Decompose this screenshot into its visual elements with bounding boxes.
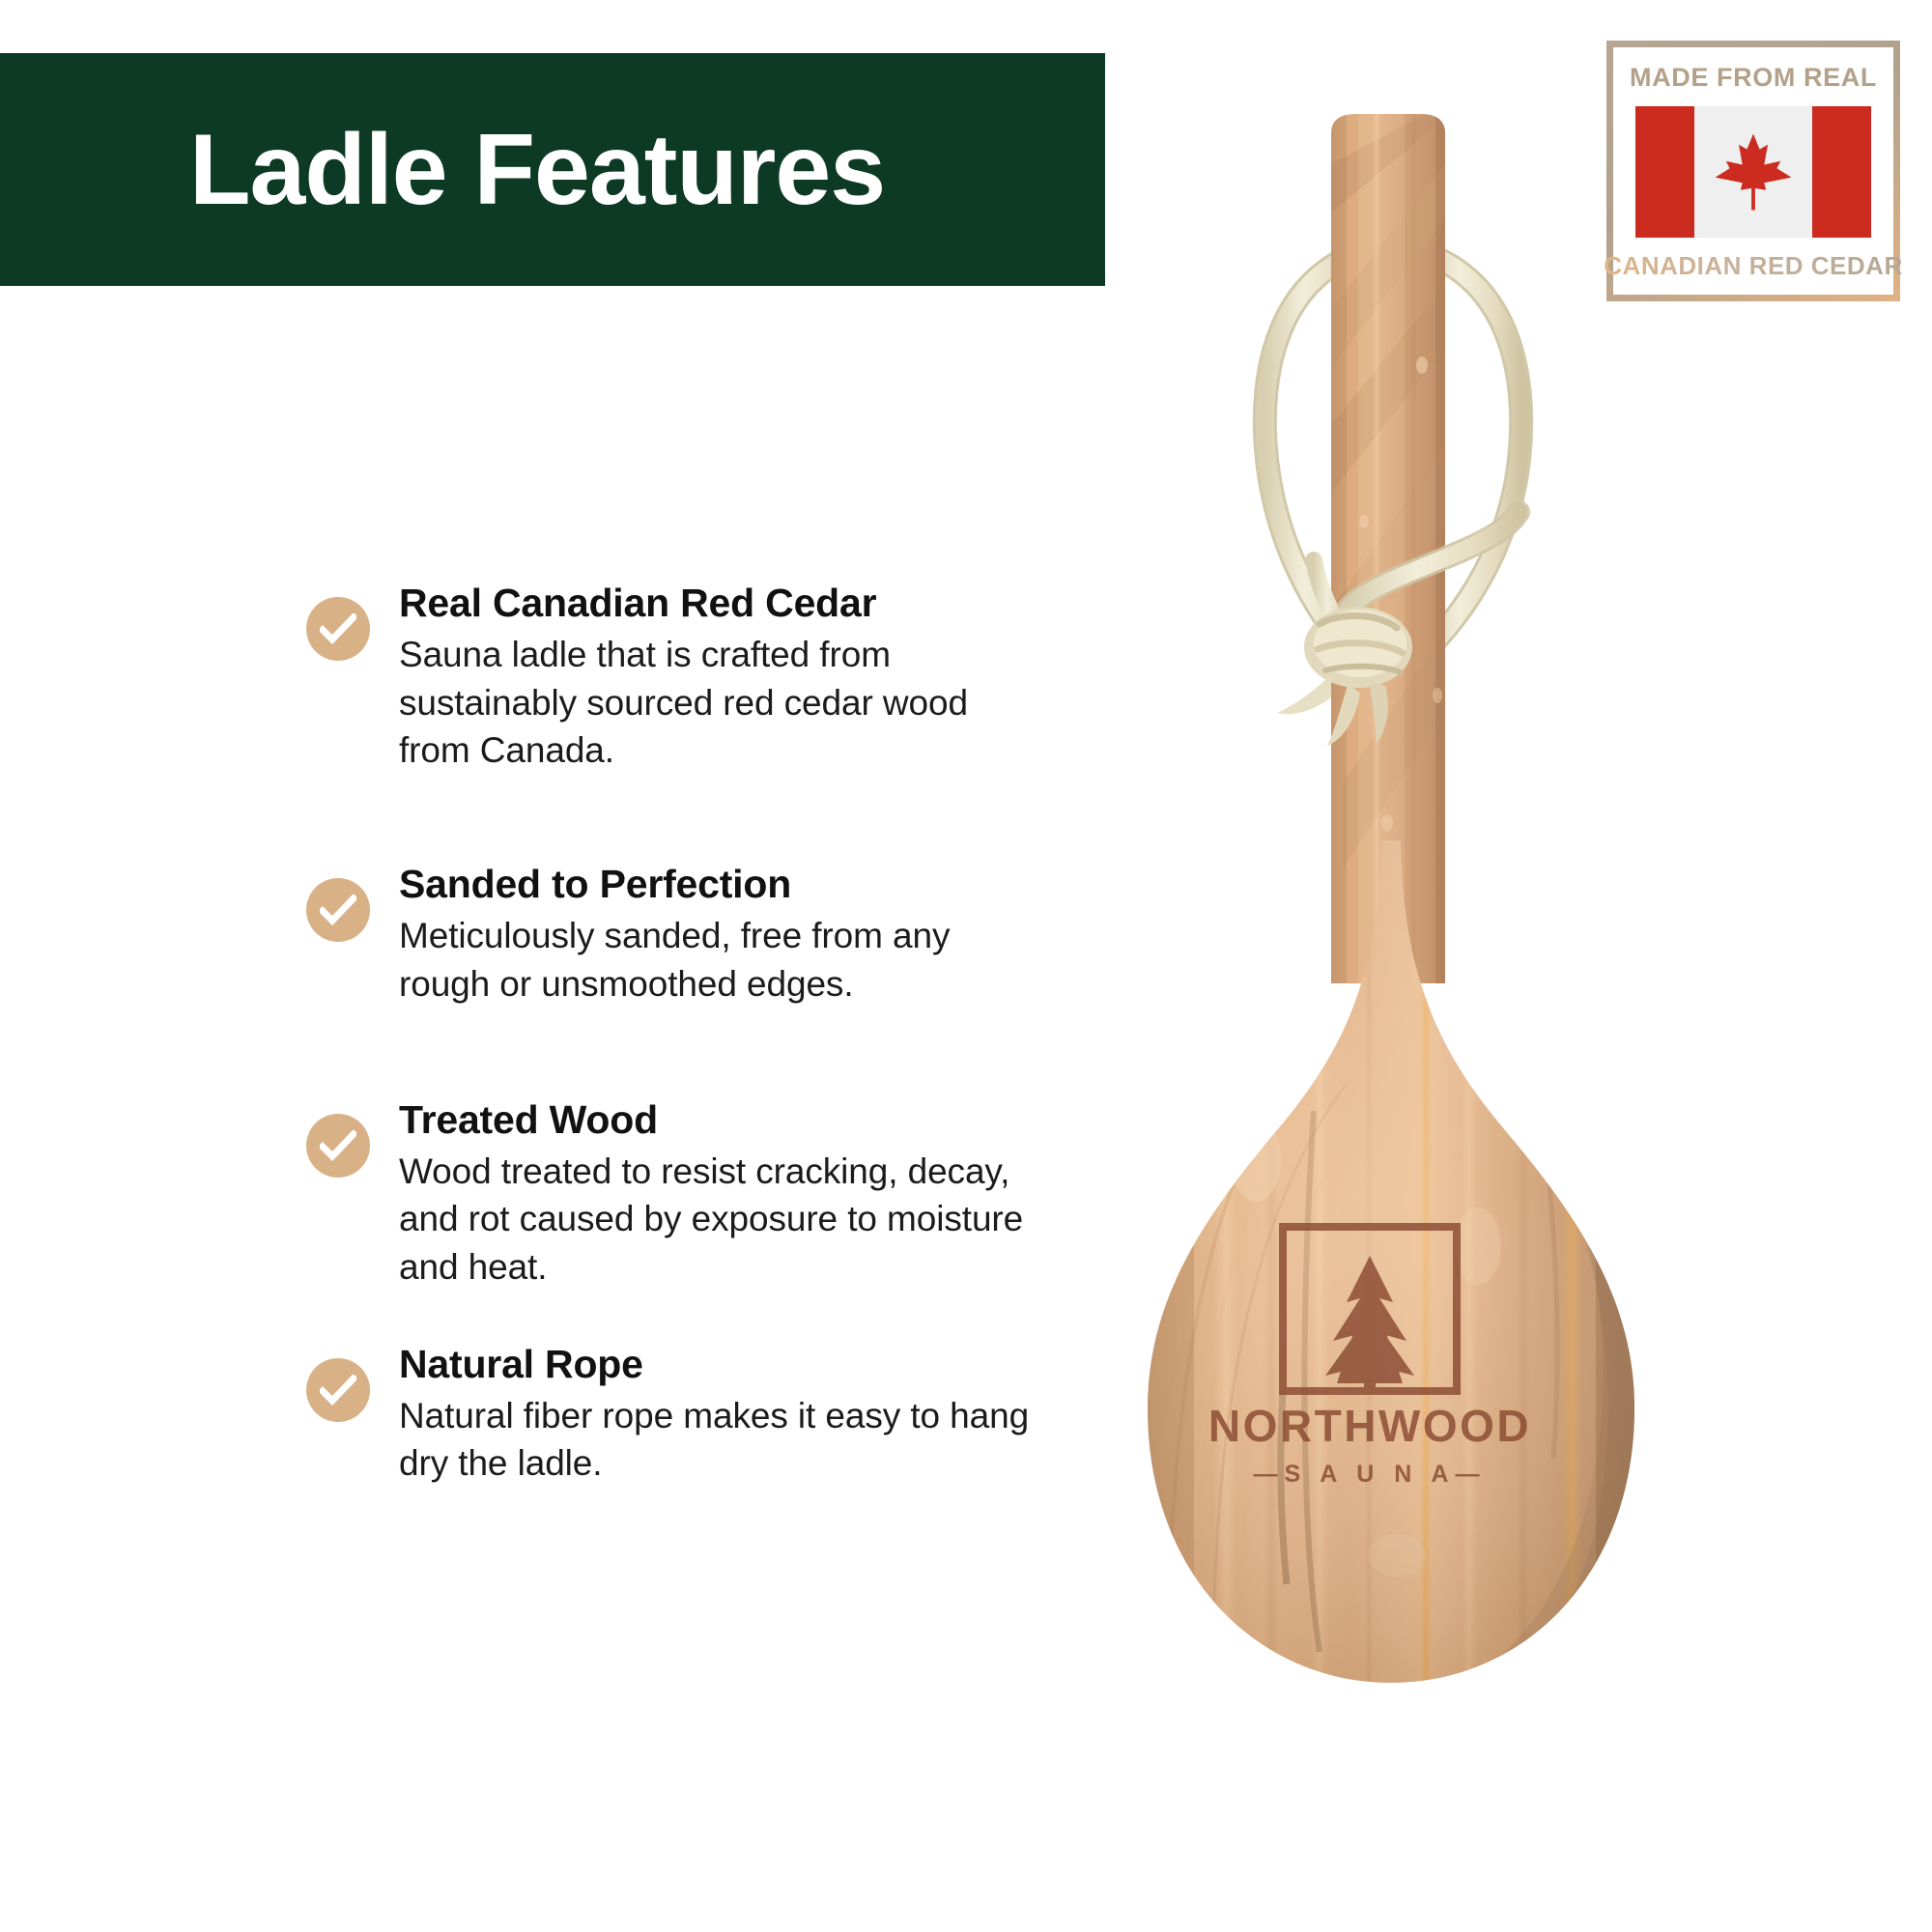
badge-top-label: MADE FROM REAL	[1630, 63, 1877, 93]
check-icon	[306, 878, 370, 942]
feature-title: Natural Rope	[399, 1341, 1040, 1387]
feature-description: Sauna ladle that is crafted from sustain…	[399, 631, 1040, 774]
feature-description: Natural fiber rope makes it easy to hang…	[399, 1392, 1040, 1487]
header-banner: Ladle Features	[0, 53, 1105, 286]
feature-item: Treated Wood Wood treated to resist crac…	[306, 1096, 1040, 1291]
feature-item: Natural Rope Natural fiber rope makes it…	[306, 1341, 1040, 1488]
feature-list: Real Canadian Red Cedar Sauna ladle that…	[306, 580, 1040, 1488]
check-icon	[306, 597, 370, 661]
check-icon	[306, 1114, 370, 1178]
feature-description: Meticulously sanded, free from any rough…	[399, 912, 1040, 1007]
feature-title: Sanded to Perfection	[399, 861, 1040, 907]
feature-item: Real Canadian Red Cedar Sauna ladle that…	[306, 580, 1040, 774]
brand-name: NORTHWOOD	[1208, 1401, 1531, 1451]
feature-description: Wood treated to resist cracking, decay, …	[399, 1148, 1040, 1291]
feature-title: Real Canadian Red Cedar	[399, 580, 1040, 626]
product-image-cedar-sauna-ladle: NORTHWOOD —S A U N A—	[1024, 106, 1758, 1903]
flag-right-band	[1812, 106, 1871, 238]
feature-title: Treated Wood	[399, 1096, 1040, 1143]
page-title: Ladle Features	[189, 120, 885, 220]
ladle-bowl	[1130, 821, 1652, 1710]
brand-subtitle: —S A U N A—	[1254, 1461, 1487, 1488]
feature-item: Sanded to Perfection Meticulously sanded…	[306, 861, 1040, 1008]
check-icon	[306, 1358, 370, 1422]
